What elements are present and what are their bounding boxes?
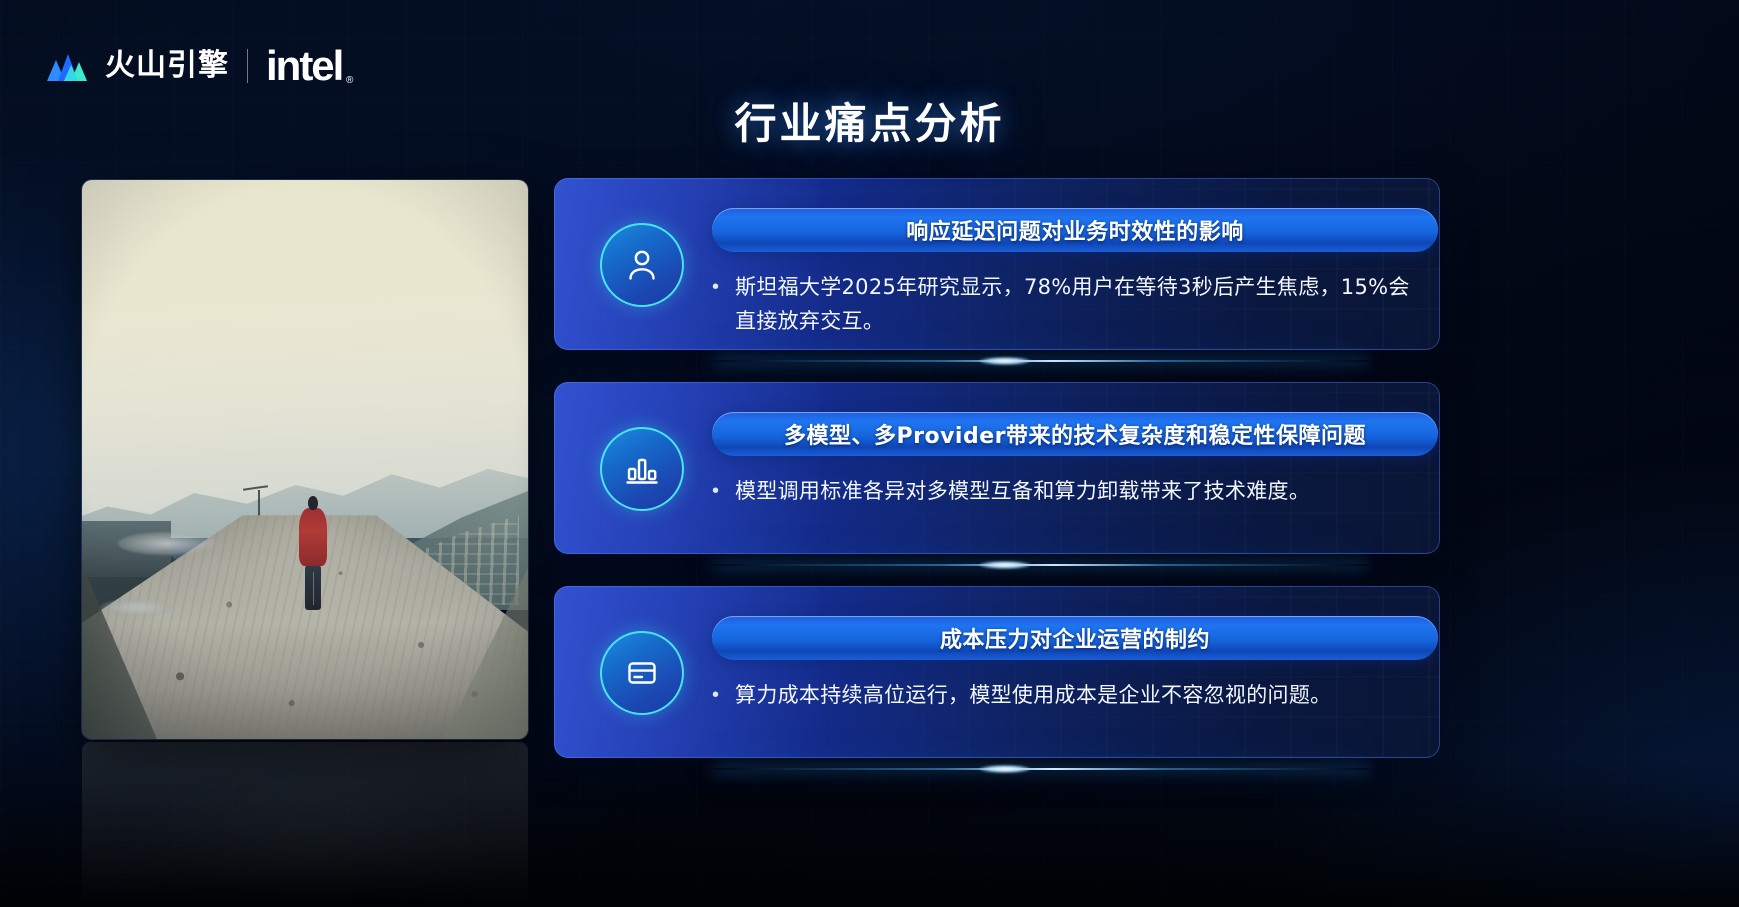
pain-point-card[interactable]: 响应延迟问题对业务时效性的影响 • 斯坦福大学2025年研究显示，78%用户在等… bbox=[554, 178, 1440, 350]
brand-logo-bar: 火山引擎 intel ® bbox=[45, 43, 342, 89]
photo-reflection-fill bbox=[82, 742, 528, 907]
bullet-marker: • bbox=[712, 270, 719, 304]
card-body-text: 模型调用标准各异对多模型互备和算力卸载带来了技术难度。 bbox=[735, 474, 1310, 508]
card-sheen bbox=[554, 382, 820, 554]
pain-point-card-list: 响应延迟问题对业务时效性的影响 • 斯坦福大学2025年研究显示，78%用户在等… bbox=[554, 178, 1440, 790]
card-title-pill: 响应延迟问题对业务时效性的影响 bbox=[712, 208, 1438, 252]
photo-reflection bbox=[82, 742, 528, 907]
page-title: 行业痛点分析 bbox=[0, 90, 1739, 151]
card-divider-glow bbox=[554, 354, 1440, 368]
card-divider-glow bbox=[554, 558, 1440, 572]
user-person-icon bbox=[600, 223, 684, 307]
card-title: 多模型、多Provider带来的技术复杂度和稳定性保障问题 bbox=[758, 418, 1392, 450]
intel-logo: intel ® bbox=[266, 45, 342, 87]
card-divider-glow bbox=[554, 762, 1440, 776]
glow-core bbox=[979, 561, 1031, 569]
glow-line bbox=[713, 360, 1369, 362]
bullet-marker: • bbox=[712, 474, 719, 508]
pain-point-card[interactable]: 多模型、多Provider带来的技术复杂度和稳定性保障问题 • 模型调用标准各异… bbox=[554, 382, 1440, 554]
card-body-text: 斯坦福大学2025年研究显示，78%用户在等待3秒后产生焦虑，15%会直接放弃交… bbox=[735, 270, 1414, 338]
volcano-mountain-icon bbox=[45, 50, 91, 82]
glow-core bbox=[979, 357, 1031, 365]
card-title-pill: 成本压力对企业运营的制约 bbox=[712, 616, 1438, 660]
photo-content bbox=[82, 180, 528, 739]
card-title: 成本压力对企业运营的制约 bbox=[914, 622, 1236, 654]
card-body: • 斯坦福大学2025年研究显示，78%用户在等待3秒后产生焦虑，15%会直接放… bbox=[712, 270, 1414, 338]
glow-core bbox=[979, 765, 1031, 773]
intel-wordmark: intel bbox=[266, 42, 342, 89]
photo-color-grade bbox=[82, 180, 528, 739]
pain-point-card[interactable]: 成本压力对企业运营的制约 • 算力成本持续高位运行，模型使用成本是企业不容忽视的… bbox=[554, 586, 1440, 758]
card-body-text: 算力成本持续高位运行，模型使用成本是企业不容忽视的问题。 bbox=[735, 678, 1331, 712]
brand-name-cn: 火山引擎 bbox=[105, 51, 229, 81]
slide-canvas: 火山引擎 intel ® 行业痛点分析 bbox=[0, 0, 1739, 907]
glow-line bbox=[713, 564, 1369, 566]
illustration-photo bbox=[82, 180, 528, 739]
logo-divider bbox=[247, 49, 248, 83]
card-title-pill: 多模型、多Provider带来的技术复杂度和稳定性保障问题 bbox=[712, 412, 1438, 456]
bar-chart-icon bbox=[600, 427, 684, 511]
card-texture bbox=[554, 382, 1440, 554]
card-title: 响应延迟问题对业务时效性的影响 bbox=[880, 214, 1270, 246]
card-texture bbox=[554, 586, 1440, 758]
card-sheen bbox=[554, 586, 820, 758]
bullet-marker: • bbox=[712, 678, 719, 712]
card-body: • 模型调用标准各异对多模型互备和算力卸载带来了技术难度。 bbox=[712, 474, 1414, 508]
card-body: • 算力成本持续高位运行，模型使用成本是企业不容忽视的问题。 bbox=[712, 678, 1414, 712]
registered-mark: ® bbox=[346, 76, 353, 86]
credit-card-icon bbox=[600, 631, 684, 715]
glow-line bbox=[713, 768, 1369, 770]
